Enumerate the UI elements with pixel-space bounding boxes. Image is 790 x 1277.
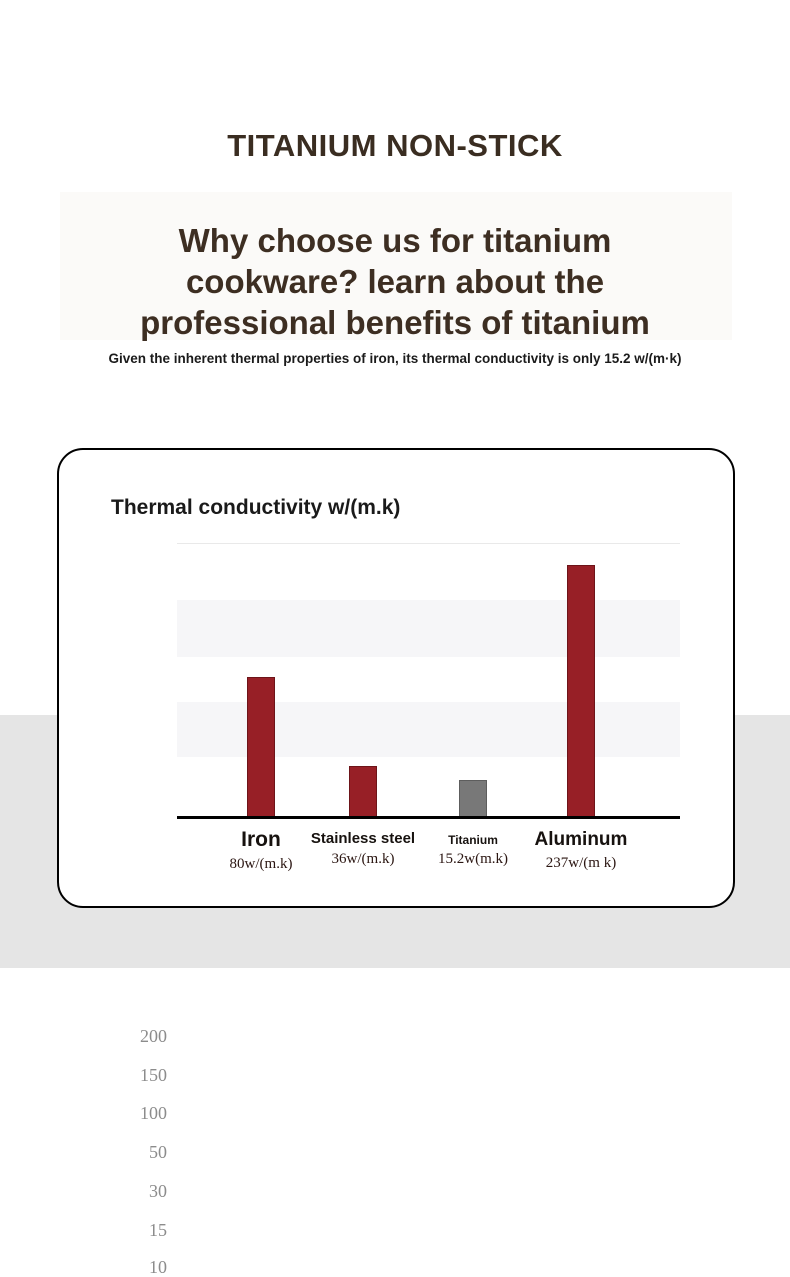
bar-iron[interactable] (247, 677, 275, 817)
y-tick-label: 100 (67, 1104, 167, 1122)
page-title-line-2: cookware? learn about the (45, 261, 745, 302)
eyebrow-title: TITANIUM NON-STICK (0, 128, 790, 164)
x-axis-line (177, 816, 680, 819)
chart-band-upper (177, 600, 680, 657)
chart-top-rule (177, 543, 680, 544)
y-tick-label: 30 (67, 1182, 167, 1200)
bar-titanium[interactable] (459, 780, 487, 817)
y-tick-label: 10 (67, 1258, 167, 1276)
page-title-line-1: Why choose us for titanium (45, 220, 745, 261)
y-tick-label: 200 (67, 1027, 167, 1045)
y-tick-label: 50 (67, 1143, 167, 1161)
chart-plot-area: 200 150 100 50 30 15 10 Iron 80w/(m.k) S… (59, 450, 737, 910)
x-label-aluminum: Aluminum 237w/(m k) (501, 829, 661, 872)
x-label-name: Aluminum (501, 829, 661, 851)
y-tick-label: 150 (67, 1066, 167, 1084)
chart-card: Thermal conductivity w/(m.k) 200 150 100… (57, 448, 735, 908)
bar-stainless-steel[interactable] (349, 766, 377, 817)
page-title-line-3: professional benefits of titanium (45, 302, 745, 343)
bar-aluminum[interactable] (567, 565, 595, 817)
x-label-value: 237w/(m k) (501, 855, 661, 872)
page-subtitle: Given the inherent thermal properties of… (0, 351, 790, 366)
y-axis: 200 150 100 50 30 15 10 (59, 450, 167, 910)
y-tick-label: 15 (67, 1221, 167, 1239)
page-title: Why choose us for titanium cookware? lea… (45, 220, 745, 343)
